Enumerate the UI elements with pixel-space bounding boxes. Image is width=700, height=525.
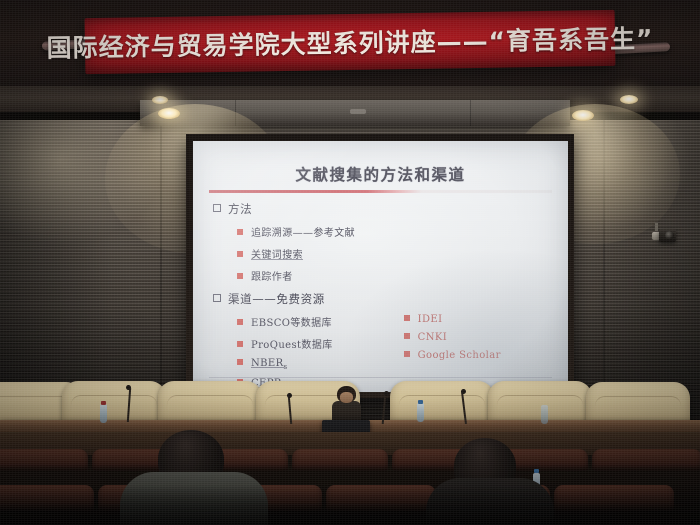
slide-bullet: 跟踪作者 [209, 268, 552, 283]
slide-section-heading: 渠道——免费资源 [209, 291, 552, 307]
bullet-text: 追踪溯源——参考文献 [251, 224, 355, 239]
filled-square-bullet-icon [237, 251, 243, 257]
microphone-head-icon [126, 385, 131, 390]
projection-screen: 文献搜集的方法和渠道 方法 追踪溯源——参考文献 关键词搜索 跟踪作 [193, 141, 568, 392]
downlight-icon [158, 108, 180, 119]
bullet-text: 关键词搜索 [251, 246, 303, 261]
soffit-vent [350, 109, 366, 114]
microphone-head-icon [384, 391, 389, 396]
bullet-text: ProQuest数据库 [251, 336, 333, 351]
camera-lens-icon [665, 231, 674, 240]
bullet-label: NBER [251, 358, 284, 369]
bullet-text: 跟踪作者 [251, 268, 293, 283]
water-bottle [100, 404, 107, 423]
event-banner: 国际经济与贸易学院大型系列讲座——“育吾系吾生” [85, 10, 616, 74]
microphone-head-icon [461, 389, 466, 394]
open-square-bullet-icon [213, 204, 221, 212]
slide-section-heading: 方法 [209, 201, 552, 217]
auditorium-seat [554, 485, 674, 511]
auditorium-seat [0, 485, 94, 511]
auditorium-seat [326, 485, 436, 511]
projection-screen-frame: 文献搜集的方法和渠道 方法 追踪溯源——参考文献 关键词搜索 跟踪作 [186, 134, 574, 398]
microphone-head-icon [287, 393, 292, 398]
slide-footer-rule [209, 377, 552, 378]
slide-title-rule [209, 190, 552, 193]
section-heading-text: 渠道——免费资源 [228, 291, 325, 307]
auditorium-seat [592, 449, 700, 471]
conference-chair [488, 381, 592, 425]
auditorium-seat [0, 449, 88, 471]
presentation-slide: 文献搜集的方法和渠道 方法 追踪溯源——参考文献 关键词搜索 跟踪作 [193, 141, 568, 392]
filled-square-bullet-icon [404, 315, 410, 321]
downlight-icon [572, 110, 594, 121]
presenter-face [340, 392, 353, 403]
water-bottle [417, 403, 424, 422]
slide-bullet: ProQuest数据库 [209, 336, 398, 351]
slide-bullet: IDEI [398, 314, 552, 325]
soffit-seam [235, 100, 236, 126]
bullet-text: EBSCO等数据库 [251, 314, 332, 329]
filled-square-bullet-icon [237, 359, 243, 365]
bullet-text: CNKI [418, 332, 447, 343]
camera-mount-arm [655, 223, 658, 231]
slide-bullet: 关键词搜索 [209, 246, 552, 261]
slide-bullet: EBSCO等数据库 [209, 314, 398, 329]
filled-square-bullet-icon [237, 319, 243, 325]
filled-square-bullet-icon [404, 351, 410, 357]
slide-bullet: NBERs [209, 358, 398, 371]
conference-chair [158, 381, 262, 425]
soffit-seam [470, 100, 471, 126]
lecture-hall-photo: 国际经济与贸易学院大型系列讲座——“育吾系吾生” 文献搜集的方法和渠道 方法 追… [0, 0, 700, 525]
conference-chair [390, 381, 494, 425]
auditorium-seat [292, 449, 388, 471]
slide-bullet: 追踪溯源——参考文献 [209, 224, 552, 239]
filled-square-bullet-icon [237, 273, 243, 279]
audience-seating [0, 455, 700, 525]
bullet-subscript: s [284, 363, 288, 371]
audience-shoulders [120, 472, 268, 525]
downlight-icon [620, 95, 638, 104]
water-bottle [541, 405, 548, 424]
audience-person [440, 438, 540, 525]
conference-chair [62, 381, 166, 425]
downlight-icon [152, 96, 168, 104]
filled-square-bullet-icon [237, 229, 243, 235]
section-heading-text: 方法 [228, 201, 252, 217]
banner-text: 国际经济与贸易学院大型系列讲座——“育吾系吾生” [46, 19, 653, 65]
bottle-cap [101, 401, 106, 405]
bottle-cap [418, 400, 423, 404]
audience-shoulders [426, 478, 554, 525]
slide-bullet: Google Scholar [398, 350, 552, 361]
filled-square-bullet-icon [404, 333, 410, 339]
open-square-bullet-icon [213, 294, 221, 302]
screen-soffit [140, 100, 570, 126]
slide-title: 文献搜集的方法和渠道 [209, 163, 552, 185]
bullet-text: NBERs [251, 358, 288, 371]
filled-square-bullet-icon [237, 341, 243, 347]
slide-bullet: CNKI [398, 332, 552, 343]
audience-person [138, 430, 248, 525]
bullet-text: Google Scholar [418, 350, 501, 361]
bullet-text: IDEI [418, 314, 443, 325]
